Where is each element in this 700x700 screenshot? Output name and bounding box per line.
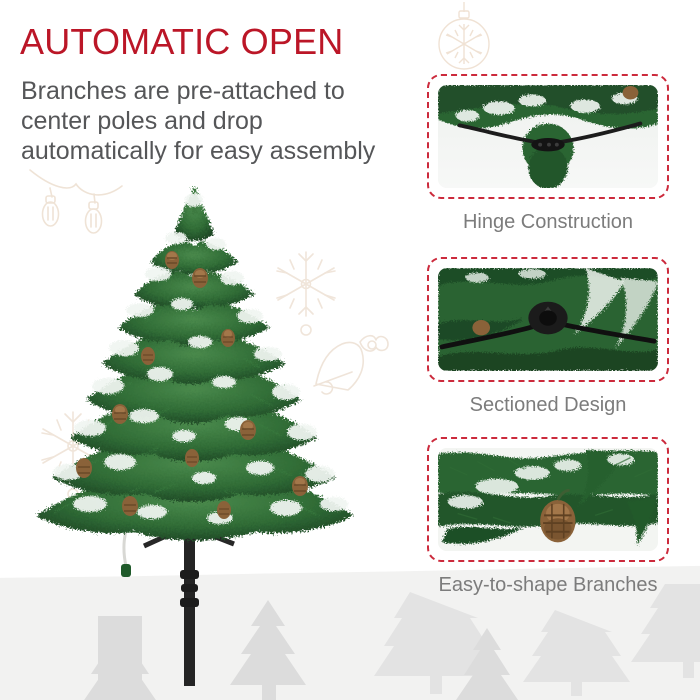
page-subtitle: Branches are pre-attached to center pole…: [21, 76, 421, 166]
panel-caption: Easy-to-shape Branches: [427, 572, 669, 598]
panel-caption: Hinge Construction: [427, 209, 669, 235]
sectioned-design-photo: [438, 268, 658, 371]
easy-to-shape-branches-photo: [438, 448, 658, 551]
product-feature-graphic: AUTOMATIC OPEN Branches are pre-attached…: [0, 0, 700, 700]
subtitle-line-1: Branches are pre-attached to: [21, 76, 421, 106]
panel-caption: Sectioned Design: [427, 392, 669, 418]
detail-panel-hinge-construction: Hinge Construction: [427, 74, 669, 235]
dashed-frame: [427, 74, 669, 199]
hub-connector: [528, 302, 567, 335]
detail-panel-sectioned-design: Sectioned Design: [427, 257, 669, 418]
christmas-tree-image: [24, 186, 364, 686]
dashed-frame: [427, 437, 669, 562]
page-title: AUTOMATIC OPEN: [20, 22, 410, 62]
hinge-construction-photo: [438, 85, 658, 188]
ornament-ball-snowflake-icon: [425, 0, 503, 78]
center-pole: [144, 516, 234, 686]
detail-panel-easy-to-shape-branches: Easy-to-shape Branches: [427, 437, 669, 598]
subtitle-line-3: automatically for easy assembly: [21, 136, 421, 166]
subtitle-line-2: center poles and drop: [21, 106, 421, 136]
dashed-frame: [427, 257, 669, 382]
